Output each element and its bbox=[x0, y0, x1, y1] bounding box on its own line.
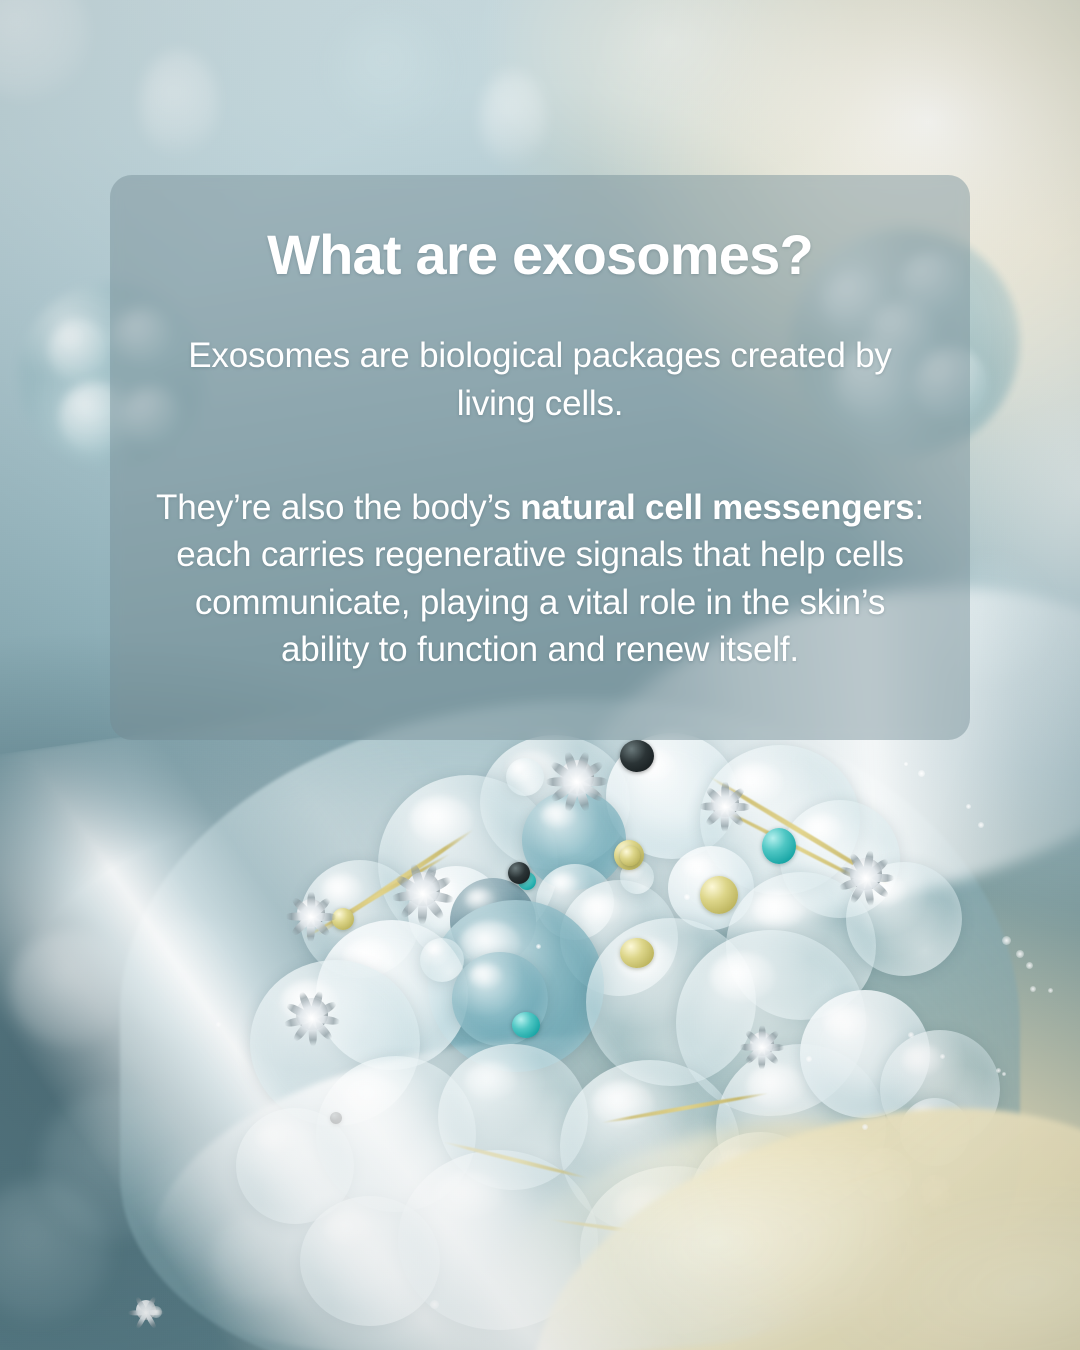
text-overlay-card: What are exosomes? Exosomes are biologic… bbox=[110, 175, 970, 740]
paragraph-two-emphasis: natural cell messengers bbox=[520, 488, 914, 527]
social-post-canvas: What are exosomes? Exosomes are biologic… bbox=[0, 0, 1080, 1350]
card-paragraph-one: Exosomes are biological packages created… bbox=[150, 332, 930, 427]
card-paragraph-two: They’re also the body’s natural cell mes… bbox=[150, 484, 930, 674]
card-title: What are exosomes? bbox=[267, 211, 813, 284]
paragraph-two-lead: They’re also the body’s bbox=[156, 488, 520, 527]
